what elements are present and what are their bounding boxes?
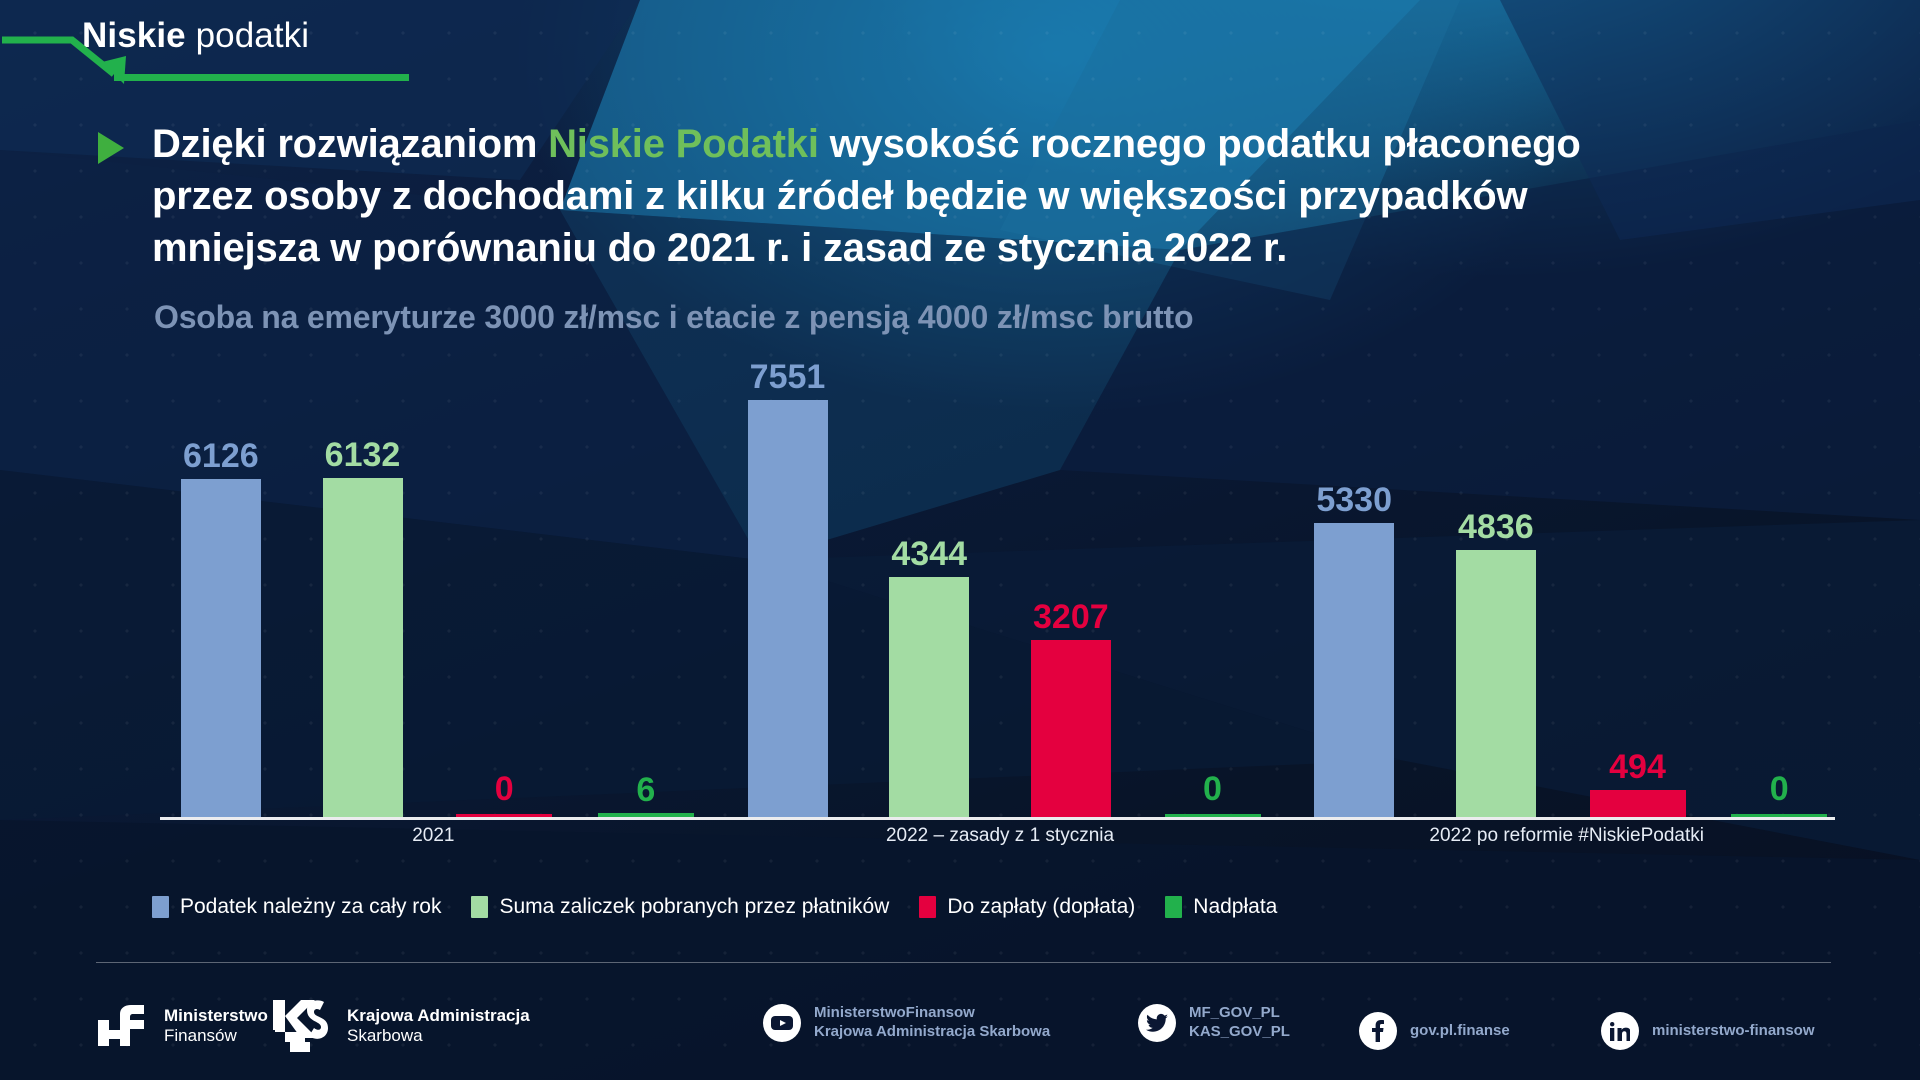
social-youtube[interactable]: MinisterstwoFinansow Krajowa Administrac… — [763, 1004, 1050, 1042]
chart-group: 533048364940 — [1283, 360, 1850, 820]
chart-bar: 6126 — [181, 479, 261, 817]
legend-item[interactable]: Suma zaliczek pobranych przez płatników — [471, 895, 889, 919]
legend-swatch — [152, 896, 169, 918]
chart-bar-value-label: 4344 — [891, 537, 967, 571]
chart-bar: 5330 — [1314, 523, 1394, 817]
linkedin-icon[interactable] — [1601, 1012, 1639, 1050]
chart-x-label: 2022 po reformie #NiskiePodatki — [1283, 825, 1850, 847]
chart-bar-value-label: 0 — [1770, 772, 1789, 806]
brand-label: Krajowa Administracja Skarbowa — [347, 1006, 530, 1046]
chart-bar-value-label: 0 — [495, 772, 514, 806]
chart-legend: Podatek należny za cały rokSuma zaliczek… — [152, 895, 1277, 919]
chart-x-label: 2022 – zasady z 1 stycznia — [717, 825, 1284, 847]
brand-label: Ministerstwo Finansów — [164, 1006, 268, 1046]
footer-divider — [96, 962, 1831, 963]
chart-bar-value-label: 4836 — [1458, 510, 1534, 544]
chart-bar-value-label: 3207 — [1033, 600, 1109, 634]
kas-logo-icon — [271, 998, 333, 1054]
mf-logo-icon — [96, 1004, 150, 1048]
niskie-podatki-logo: Niskie podatki — [82, 18, 512, 84]
brand-line-2: Skarbowa — [347, 1026, 530, 1046]
chart-bar-value-label: 7551 — [750, 360, 826, 394]
chart-group: 7551434432070 — [717, 360, 1284, 820]
chart-bar-slots: 7551434432070 — [717, 400, 1284, 817]
legend-item[interactable]: Do zapłaty (dopłata) — [919, 895, 1135, 919]
legend-label: Podatek należny za cały rok — [180, 895, 441, 919]
chart-bar-slot: 0 — [1142, 400, 1284, 817]
infographic-canvas: Niskie podatki Dzięki rozwiązaniom Niski… — [0, 0, 1920, 1080]
chart-bar-slot: 6132 — [292, 400, 434, 817]
chart-bar-slot: 494 — [1567, 400, 1709, 817]
legend-swatch — [1165, 896, 1182, 918]
chart-group: 6126613206 — [150, 360, 717, 820]
chart-bar-slot: 7551 — [717, 400, 859, 817]
chart-bar: 494 — [1590, 790, 1686, 817]
brand-line-1: Krajowa Administracja — [347, 1006, 530, 1026]
brand-krajowa-administracja-skarbowa: Krajowa Administracja Skarbowa — [271, 998, 530, 1054]
social-label: MinisterstwoFinansow Krajowa Administrac… — [814, 1004, 1050, 1042]
chart-bar-value-label: 6 — [636, 773, 655, 807]
social-line-1: ministerstwo-finansow — [1652, 1022, 1815, 1041]
subtitle: Osoba na emeryturze 3000 zł/msc i etacie… — [154, 300, 1654, 335]
headline-highlight: Niskie Podatki — [548, 122, 819, 166]
social-twitter[interactable]: MF_GOV_PL KAS_GOV_PL — [1138, 1004, 1290, 1042]
social-line-2: Krajowa Administracja Skarbowa — [814, 1023, 1050, 1042]
chart-groups: 61266132067551434432070533048364940 — [150, 360, 1850, 820]
social-line-2: KAS_GOV_PL — [1189, 1023, 1290, 1042]
youtube-icon[interactable] — [763, 1004, 801, 1042]
chart-bar-value-label: 6132 — [325, 438, 401, 472]
chart-bar-value-label: 6126 — [183, 439, 259, 473]
chart-bar-slot: 0 — [433, 400, 575, 817]
green-play-triangle-icon — [96, 130, 126, 166]
chart-bar-slot: 0 — [1708, 400, 1850, 817]
legend-item[interactable]: Nadpłata — [1165, 895, 1277, 919]
chart-bar-slots: 533048364940 — [1283, 400, 1850, 817]
chart-bar-slot: 4344 — [858, 400, 1000, 817]
chart-x-label: 2021 — [150, 825, 717, 847]
green-arrow-icon — [2, 18, 422, 84]
footer: Ministerstwo Finansów Krajowa Administra… — [96, 990, 1856, 1070]
social-line-1: MinisterstwoFinansow — [814, 1004, 1050, 1023]
legend-label: Do zapłaty (dopłata) — [947, 895, 1135, 919]
bar-chart: 61266132067551434432070533048364940 2021… — [150, 360, 1850, 820]
brand-ministerstwo-finansow: Ministerstwo Finansów — [96, 1004, 268, 1048]
chart-bar-value-label: 5330 — [1316, 483, 1392, 517]
chart-bar-slot: 6 — [575, 400, 717, 817]
page-title: Dzięki rozwiązaniom Niskie Podatki wysok… — [152, 118, 1632, 274]
chart-bar-slots: 6126613206 — [150, 400, 717, 817]
chart-bar-value-label: 0 — [1203, 772, 1222, 806]
chart-bar-slot: 3207 — [1000, 400, 1142, 817]
brand-line-1: Ministerstwo — [164, 1006, 268, 1026]
twitter-icon[interactable] — [1138, 1004, 1176, 1042]
social-label: gov.pl.finanse — [1410, 1022, 1510, 1041]
brand-line-2: Finansów — [164, 1026, 268, 1046]
headline-part-1: Dzięki rozwiązaniom — [152, 122, 548, 166]
chart-bar: 6132 — [323, 478, 403, 817]
social-linkedin[interactable]: ministerstwo-finansow — [1601, 1012, 1815, 1050]
chart-bar: 4836 — [1456, 550, 1536, 817]
chart-bar: 7551 — [748, 400, 828, 817]
chart-bar-slot: 4836 — [1425, 400, 1567, 817]
chart-bar: 3207 — [1031, 640, 1111, 817]
social-label: MF_GOV_PL KAS_GOV_PL — [1189, 1004, 1290, 1042]
chart-bar-slot: 6126 — [150, 400, 292, 817]
legend-swatch — [471, 896, 488, 918]
chart-x-axis-labels: 20212022 – zasady z 1 stycznia2022 po re… — [150, 825, 1850, 847]
social-line-1: gov.pl.finanse — [1410, 1022, 1510, 1041]
legend-label: Nadpłata — [1193, 895, 1277, 919]
chart-bar-value-label: 494 — [1609, 750, 1666, 784]
legend-label: Suma zaliczek pobranych przez płatników — [499, 895, 889, 919]
social-facebook[interactable]: gov.pl.finanse — [1359, 1012, 1510, 1050]
social-line-1: MF_GOV_PL — [1189, 1004, 1290, 1023]
legend-swatch — [919, 896, 936, 918]
chart-bar-slot: 5330 — [1283, 400, 1425, 817]
legend-item[interactable]: Podatek należny za cały rok — [152, 895, 441, 919]
social-label: ministerstwo-finansow — [1652, 1022, 1815, 1041]
chart-baseline-axis — [160, 817, 1835, 820]
chart-bar: 4344 — [889, 577, 969, 817]
facebook-icon[interactable] — [1359, 1012, 1397, 1050]
